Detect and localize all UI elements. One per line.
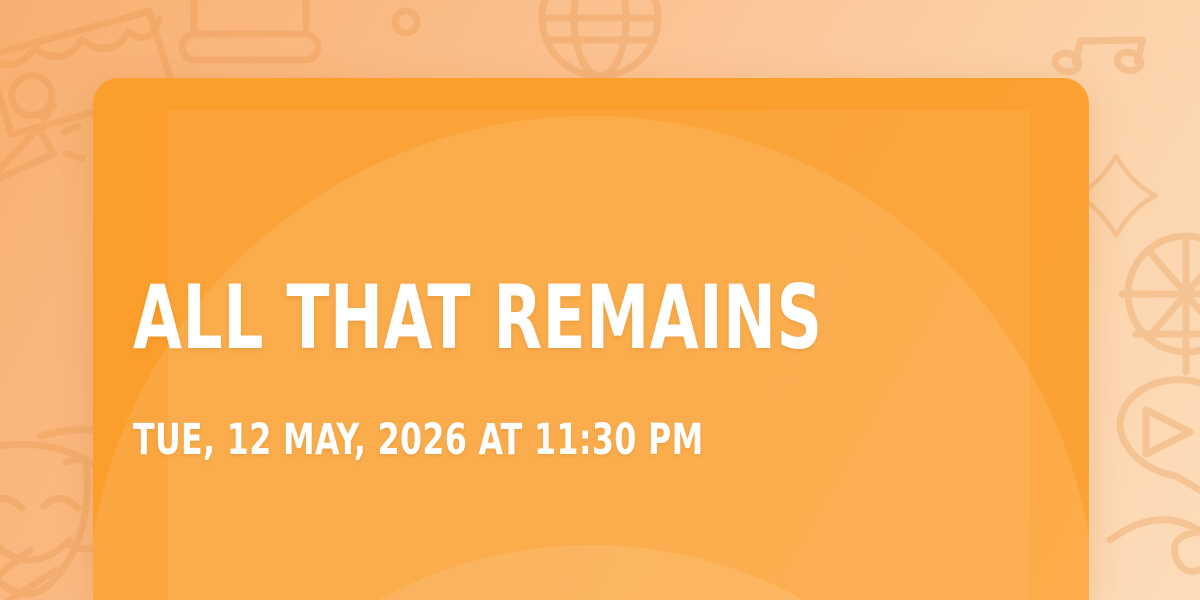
balloon-icon [1122, 236, 1200, 372]
sparkle-icon [395, 11, 417, 33]
event-title: All That Remains [133, 274, 822, 362]
play-circle-icon [1120, 380, 1200, 496]
event-card[interactable]: All That Remains Tue, 12 May, 2026 at 11… [93, 78, 1089, 600]
card-content: All That Remains Tue, 12 May, 2026 at 11… [133, 78, 1049, 600]
globe-icon [542, 0, 658, 76]
cake-icon [182, 0, 318, 60]
swirl-icon [1110, 520, 1200, 572]
event-banner: All That Remains Tue, 12 May, 2026 at 11… [0, 0, 1200, 600]
event-datetime: Tue, 12 May, 2026 at 11:30 PM [133, 419, 703, 462]
